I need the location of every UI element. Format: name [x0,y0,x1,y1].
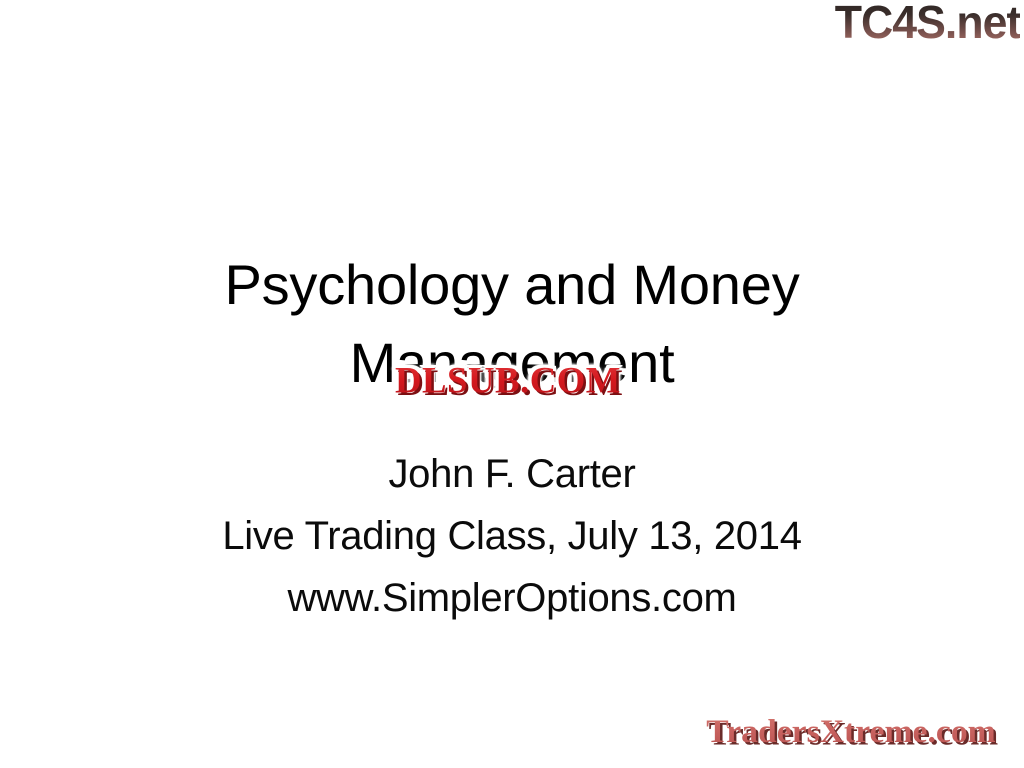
subtitle-author: John F. Carter [0,443,1024,505]
presentation-slide: Psychology and Money Management John F. … [0,0,1024,768]
slide-subtitle: John F. Carter Live Trading Class, July … [0,443,1024,629]
watermark-dlsub-face: DLSUB.COM [363,359,653,401]
subtitle-class-date: Live Trading Class, July 13, 2014 [0,505,1024,567]
watermark-tradersxtreme-face: TradersXtreme.com [683,712,1020,752]
subtitle-website: www.SimplerOptions.com [0,567,1024,629]
watermark-dlsub-com: DLSUB.COM DLSUB.COM DLSUB.COM [366,360,650,402]
watermark-tc4s-net: TC4S.net [834,0,1020,46]
slide-title-line-1: Psychology and Money [0,246,1024,324]
watermark-tradersxtreme-com: TradersXtreme.com TradersXtreme.com Trad… [686,712,1016,756]
